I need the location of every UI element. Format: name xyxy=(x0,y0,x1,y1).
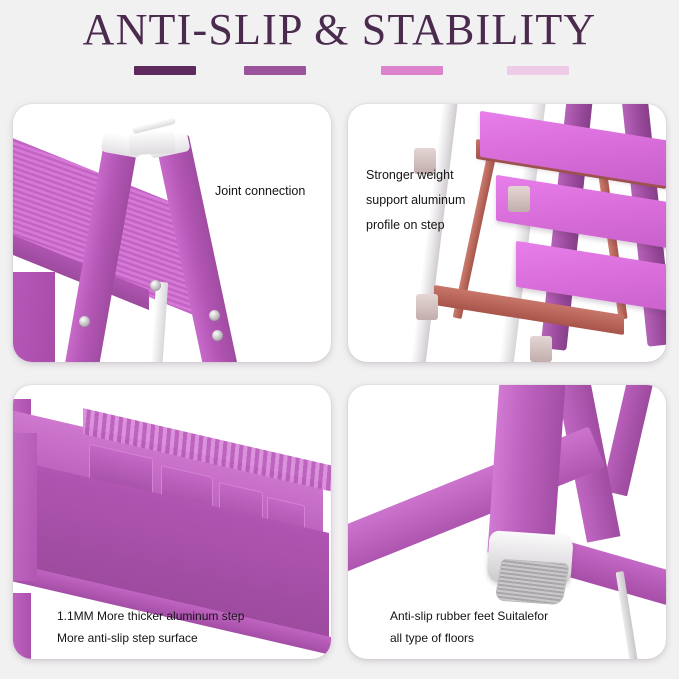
caption-joint-connection: Joint connection xyxy=(215,182,305,202)
caption-line-1: Anti-slip rubber feet Suitalefor xyxy=(390,607,548,626)
header: ANTI-SLIP & STABILITY xyxy=(0,0,679,96)
bracket-end-fitting xyxy=(416,294,438,320)
accent-bar-group xyxy=(0,66,679,78)
rivet-icon xyxy=(150,280,161,291)
accent-bar-2 xyxy=(244,66,306,75)
rivet-icon xyxy=(79,316,90,327)
caption-line-1: 1.1MM More thicker aluminum step xyxy=(57,607,244,626)
panel-aluminum-profile-step: Stronger weight support aluminum profile… xyxy=(348,104,666,362)
panel-thicker-aluminum-step: 1.1MM More thicker aluminum step More an… xyxy=(13,385,331,659)
ladder-leg-back xyxy=(602,385,657,496)
hinge-joint xyxy=(128,131,175,155)
panel-joint-connection: Joint connection xyxy=(13,104,331,362)
rubber-foot-tread xyxy=(494,559,569,605)
accent-bar-3 xyxy=(381,66,443,75)
rivet-icon xyxy=(209,310,220,321)
panel-anti-slip-rubber-feet: Anti-slip rubber feet Suitalefor all typ… xyxy=(348,385,666,659)
joint-connection-illustration xyxy=(13,104,331,362)
rivet-icon xyxy=(212,330,223,341)
accent-bar-4 xyxy=(507,66,569,75)
infographic-page: ANTI-SLIP & STABILITY Joint connecti xyxy=(0,0,679,679)
profile-back-post-bottom xyxy=(13,593,31,659)
page-title: ANTI-SLIP & STABILITY xyxy=(0,4,679,55)
step-side-panel xyxy=(13,272,55,362)
caption-line-3: profile on step xyxy=(366,216,445,236)
caption-line-1: Stronger weight xyxy=(366,166,454,186)
caption-line-2: all type of floors xyxy=(390,629,474,648)
caption-line-2: support aluminum xyxy=(366,191,465,211)
caption-line-2: More anti-slip step surface xyxy=(57,629,198,648)
profile-rounded-nose xyxy=(13,433,37,581)
bracket-end-fitting xyxy=(530,336,552,362)
accent-bar-1 xyxy=(134,66,196,75)
bracket-end-fitting xyxy=(508,186,530,212)
